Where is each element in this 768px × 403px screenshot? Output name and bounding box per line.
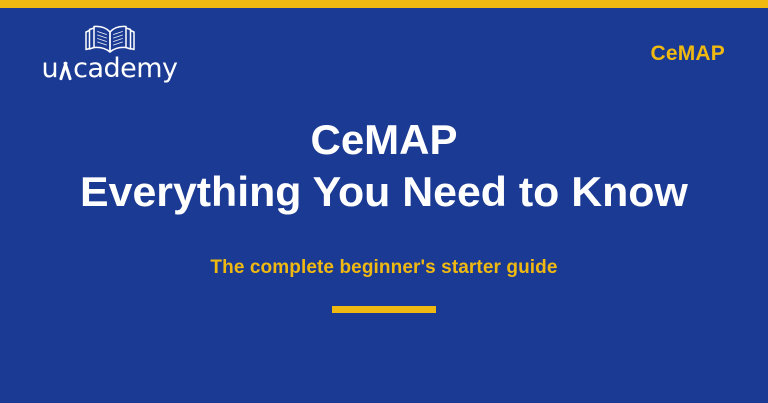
accent-divider [332,306,436,313]
hero-content: CeMAP Everything You Need to Know The co… [0,0,768,403]
hero-title-line1: CeMAP [310,116,457,163]
hero-banner: ucademy CeMAP CeMAP Everything You Need … [0,0,768,403]
hero-subtitle: The complete beginner's starter guide [210,257,557,279]
hero-title-line2: Everything You Need to Know [80,168,688,215]
